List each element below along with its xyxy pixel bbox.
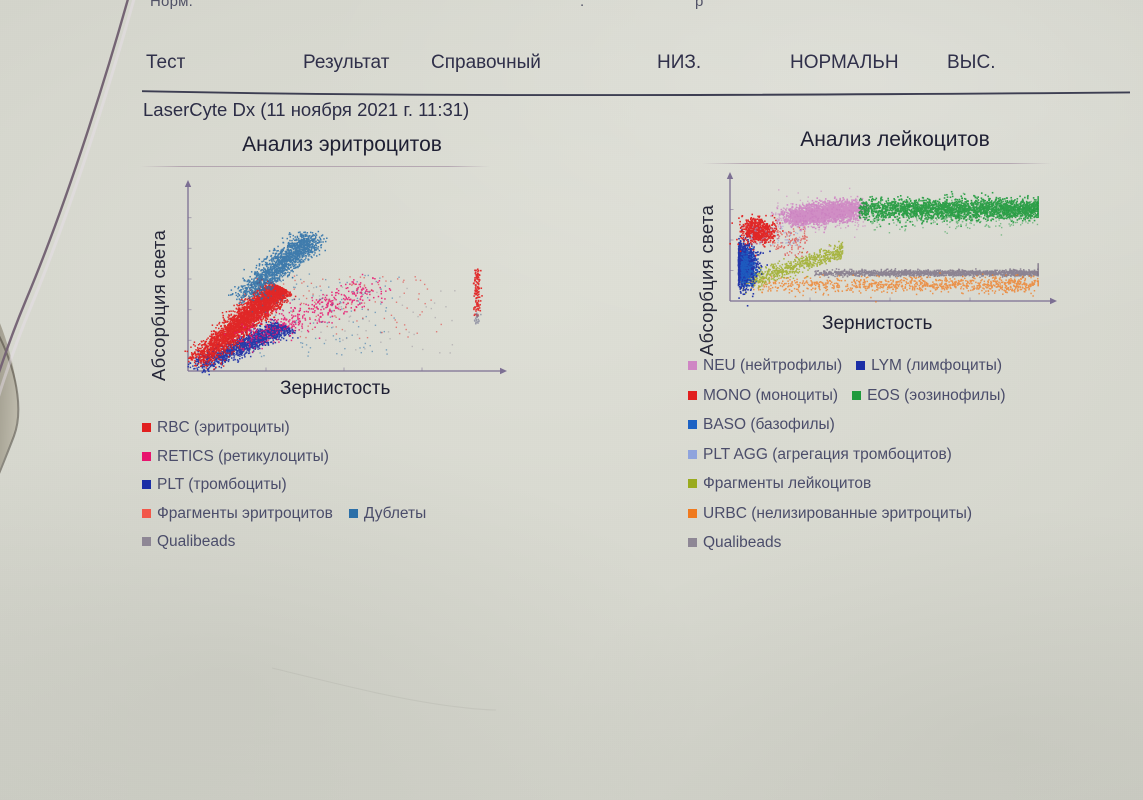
legend-swatch-baso [688, 420, 697, 429]
instrument-timestamp-line: LaserCyte Dx (11 ноября 2021 г. 11:31) [143, 99, 469, 121]
legend-entry-qualibeads: Qualibeads [142, 534, 235, 550]
column-header-reference: Справочный [431, 52, 541, 74]
legend-swatch-qualibeads [688, 538, 697, 547]
legend-label-retics: RETICS (ретикулоциты) [157, 449, 329, 465]
legend-entry-neu: NEU (нейтрофилы) [688, 358, 842, 374]
legend-entry-wbc-fragments: Фрагменты лейкоцитов [688, 476, 871, 492]
legend-swatch-urbc [688, 509, 697, 518]
legend-row: URBC (нелизированные эритроциты) [688, 506, 1088, 522]
legend-entry-retics: RETICS (ретикулоциты) [142, 449, 329, 465]
legend-label-plt-agg: PLT AGG (агрегация тромбоцитов) [703, 447, 952, 463]
legend-row: Фрагменты эритроцитовДублеты [142, 506, 612, 522]
legend-label-plt: PLT (тромбоциты) [157, 477, 287, 493]
y-axis-label-wbc: Абсорбция света [696, 156, 718, 356]
legend-entry-qualibeads: Qualibeads [688, 535, 781, 551]
chart-title-rule-rbc [140, 166, 490, 167]
legend-label-mono: MONO (моноциты) [703, 388, 838, 404]
legend-row: PLT (тромбоциты) [142, 477, 612, 493]
legend-entry-baso: BASO (базофилы) [688, 417, 835, 433]
chart-title-rbc: Анализ эритроцитов [162, 133, 522, 157]
legend-row: BASO (базофилы) [688, 417, 1088, 433]
legend-label-doublets: Дублеты [364, 506, 426, 522]
legend-swatch-retics [142, 452, 151, 461]
legend-entry-doublets: Дублеты [349, 506, 426, 522]
legend-swatch-rbc-fragments [142, 509, 151, 518]
legend-swatch-rbc [142, 423, 151, 432]
chart-title-rule-wbc [702, 163, 1052, 164]
legend-swatch-neu [688, 361, 697, 370]
legend-swatch-plt [142, 480, 151, 489]
legend-label-qualibeads: Qualibeads [703, 535, 781, 551]
legend-label-qualibeads: Qualibeads [157, 534, 235, 550]
legend-row: RETICS (ретикулоциты) [142, 449, 612, 465]
chart-title-wbc: Анализ лейкоцитов [720, 128, 1070, 152]
legend-swatch-eos [852, 391, 861, 400]
legend-label-neu: NEU (нейтрофилы) [703, 358, 842, 374]
legend-label-rbc: RBC (эритроциты) [157, 420, 290, 436]
legend-entry-eos: EOS (эозинофилы) [852, 388, 1005, 404]
legend-wbc: NEU (нейтрофилы)LYM (лимфоциты)MONO (мон… [688, 358, 1088, 565]
column-header-test: Тест [146, 52, 185, 74]
legend-rbc: RBC (эритроциты)RETICS (ретикулоциты)PLT… [142, 420, 612, 563]
scatter-plot-rbc [174, 175, 514, 390]
legend-swatch-qualibeads [142, 537, 151, 546]
legend-entry-urbc: URBC (нелизированные эритроциты) [688, 506, 972, 522]
legend-label-lym: LYM (лимфоциты) [871, 358, 1002, 374]
legend-label-eos: EOS (эозинофилы) [867, 388, 1005, 404]
scatter-plot-wbc [716, 166, 1066, 321]
legend-swatch-lym [856, 361, 865, 370]
legend-row: PLT AGG (агрегация тромбоцитов) [688, 447, 1088, 463]
legend-row: Фрагменты лейкоцитов [688, 476, 1088, 492]
table-column-headers: Тест Результат Справочный НИЗ. НОРМАЛЬН … [0, 52, 1143, 86]
column-header-result: Результат [303, 52, 389, 74]
legend-label-rbc-fragments: Фрагменты эритроцитов [157, 506, 333, 522]
legend-entry-plt: PLT (тромбоциты) [142, 477, 287, 493]
legend-entry-rbc-fragments: Фрагменты эритроцитов [142, 506, 333, 522]
legend-swatch-doublets [349, 509, 358, 518]
legend-label-wbc-fragments: Фрагменты лейкоцитов [703, 476, 871, 492]
clipped-text-mid: . [580, 0, 584, 9]
clipped-text-left: Норм. [150, 0, 193, 9]
clipped-text-right: р [695, 0, 704, 9]
legend-swatch-plt-agg [688, 450, 697, 459]
column-header-normal: НОРМАЛЬН [790, 52, 899, 74]
legend-swatch-wbc-fragments [688, 479, 697, 488]
legend-row: NEU (нейтрофилы)LYM (лимфоциты) [688, 358, 1088, 374]
legend-row: Qualibeads [688, 535, 1088, 551]
legend-row: Qualibeads [142, 534, 612, 550]
legend-swatch-mono [688, 391, 697, 400]
column-header-low: НИЗ. [657, 52, 701, 74]
y-axis-label-rbc: Абсорбция света [148, 181, 170, 381]
clipped-top-row: Норм. . р [150, 0, 850, 9]
legend-entry-rbc: RBC (эритроциты) [142, 420, 290, 436]
column-header-high: ВЫС. [947, 52, 996, 74]
legend-row: RBC (эритроциты) [142, 420, 612, 436]
legend-label-urbc: URBC (нелизированные эритроциты) [703, 506, 972, 522]
legend-label-baso: BASO (базофилы) [703, 417, 835, 433]
legend-row: MONO (моноциты)EOS (эозинофилы) [688, 388, 1088, 404]
legend-entry-plt-agg: PLT AGG (агрегация тромбоцитов) [688, 447, 952, 463]
legend-entry-lym: LYM (лимфоциты) [856, 358, 1002, 374]
legend-entry-mono: MONO (моноциты) [688, 388, 838, 404]
